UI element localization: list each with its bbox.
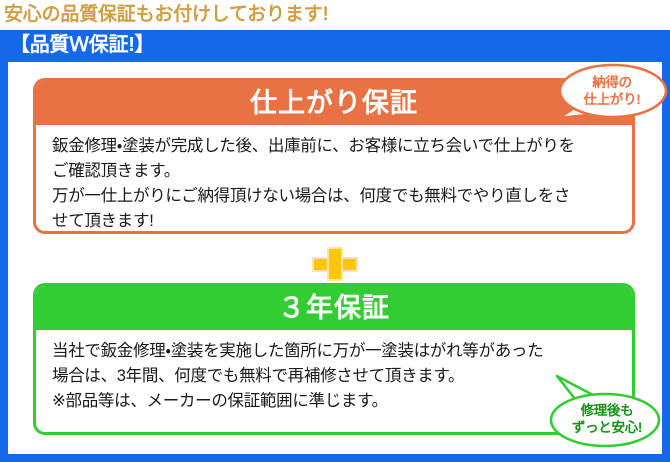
card-body-line: 鈑金修理・塗装が完成した後、出庫前に、お客様に立ち会いで仕上がりを <box>52 134 618 159</box>
card-body-line: せて頂きます! <box>52 209 618 234</box>
bubble-line-2: 仕上がり! <box>567 91 657 108</box>
card-body-line: 万が一仕上がりにご納得頂けない場合は、何度でも無料でやり直しをさ <box>52 184 618 209</box>
card-heading-three-year-guarantee: ３年保証 <box>36 286 632 330</box>
satisfaction-bubble: 納得の 仕上がり! <box>553 58 670 130</box>
card-body-line: 当社で鈑金修理・塗装を実施した箇所に万が一塗装はがれ等があった <box>52 339 618 364</box>
peace-of-mind-bubble-text: 修理後も ずっと安心! <box>563 402 651 436</box>
peace-of-mind-bubble: 修理後も ずっと安心! <box>545 372 665 450</box>
bubble-line-2: ずっと安心! <box>563 419 651 436</box>
card-body-line: ご確認頂きます。 <box>52 159 618 184</box>
card-heading-finish-guarantee: 仕上がり保証 <box>36 81 632 125</box>
plus-icon <box>310 247 360 281</box>
frame-border-bottom <box>0 454 670 462</box>
plus-icon-vertical-bar <box>327 247 343 281</box>
card-body-finish-guarantee: 鈑金修理・塗装が完成した後、出庫前に、お客様に立ち会いで仕上がりを ご確認頂きま… <box>36 125 632 240</box>
card-body-line: ※部品等は、メーカーの保証範囲に準じます。 <box>52 389 618 414</box>
bubble-line-1: 修理後も <box>563 402 651 419</box>
card-body-line: 場合は、3年間、何度でも無料で再補修させて頂きます。 <box>52 364 618 389</box>
card-body-three-year-guarantee: 当社で鈑金修理・塗装を実施した箇所に万が一塗装はがれ等があった 場合は、3年間、… <box>36 330 632 420</box>
title-bar-label: 【品質Ｗ保証!】 <box>10 30 154 62</box>
satisfaction-bubble-text: 納得の 仕上がり! <box>567 74 657 108</box>
card-finish-guarantee: 仕上がり保証 鈑金修理・塗装が完成した後、出庫前に、お客様に立ち会いで仕上がりを… <box>33 78 635 234</box>
bubble-line-1: 納得の <box>567 74 657 91</box>
frame-border-left <box>0 62 8 462</box>
page-headline: 安心の品質保証もお付けしております! <box>4 1 664 29</box>
